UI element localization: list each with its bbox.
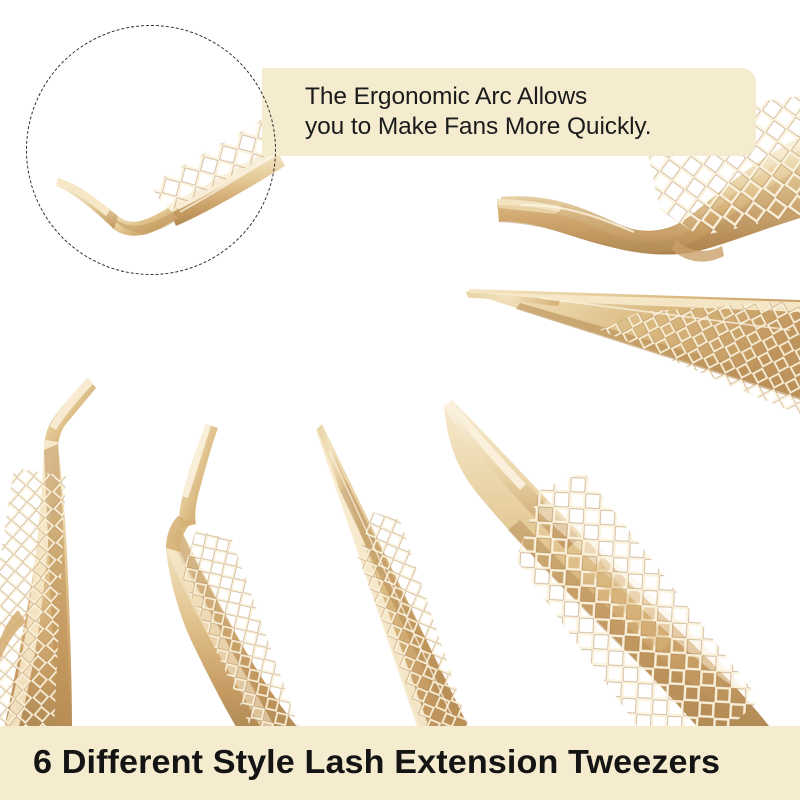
magnifier-circle-outline <box>26 25 276 275</box>
tweezer-right-straight-needle <box>466 248 800 467</box>
product-title: 6 Different Style Lash Extension Tweezer… <box>33 735 788 791</box>
callout-text: The Ergonomic Arc Allows you to Make Fan… <box>305 82 755 142</box>
product-marketing-image: The Ergonomic Arc Allows you to Make Fan… <box>0 0 800 800</box>
tweezer-bottom-1-hook <box>0 378 110 754</box>
